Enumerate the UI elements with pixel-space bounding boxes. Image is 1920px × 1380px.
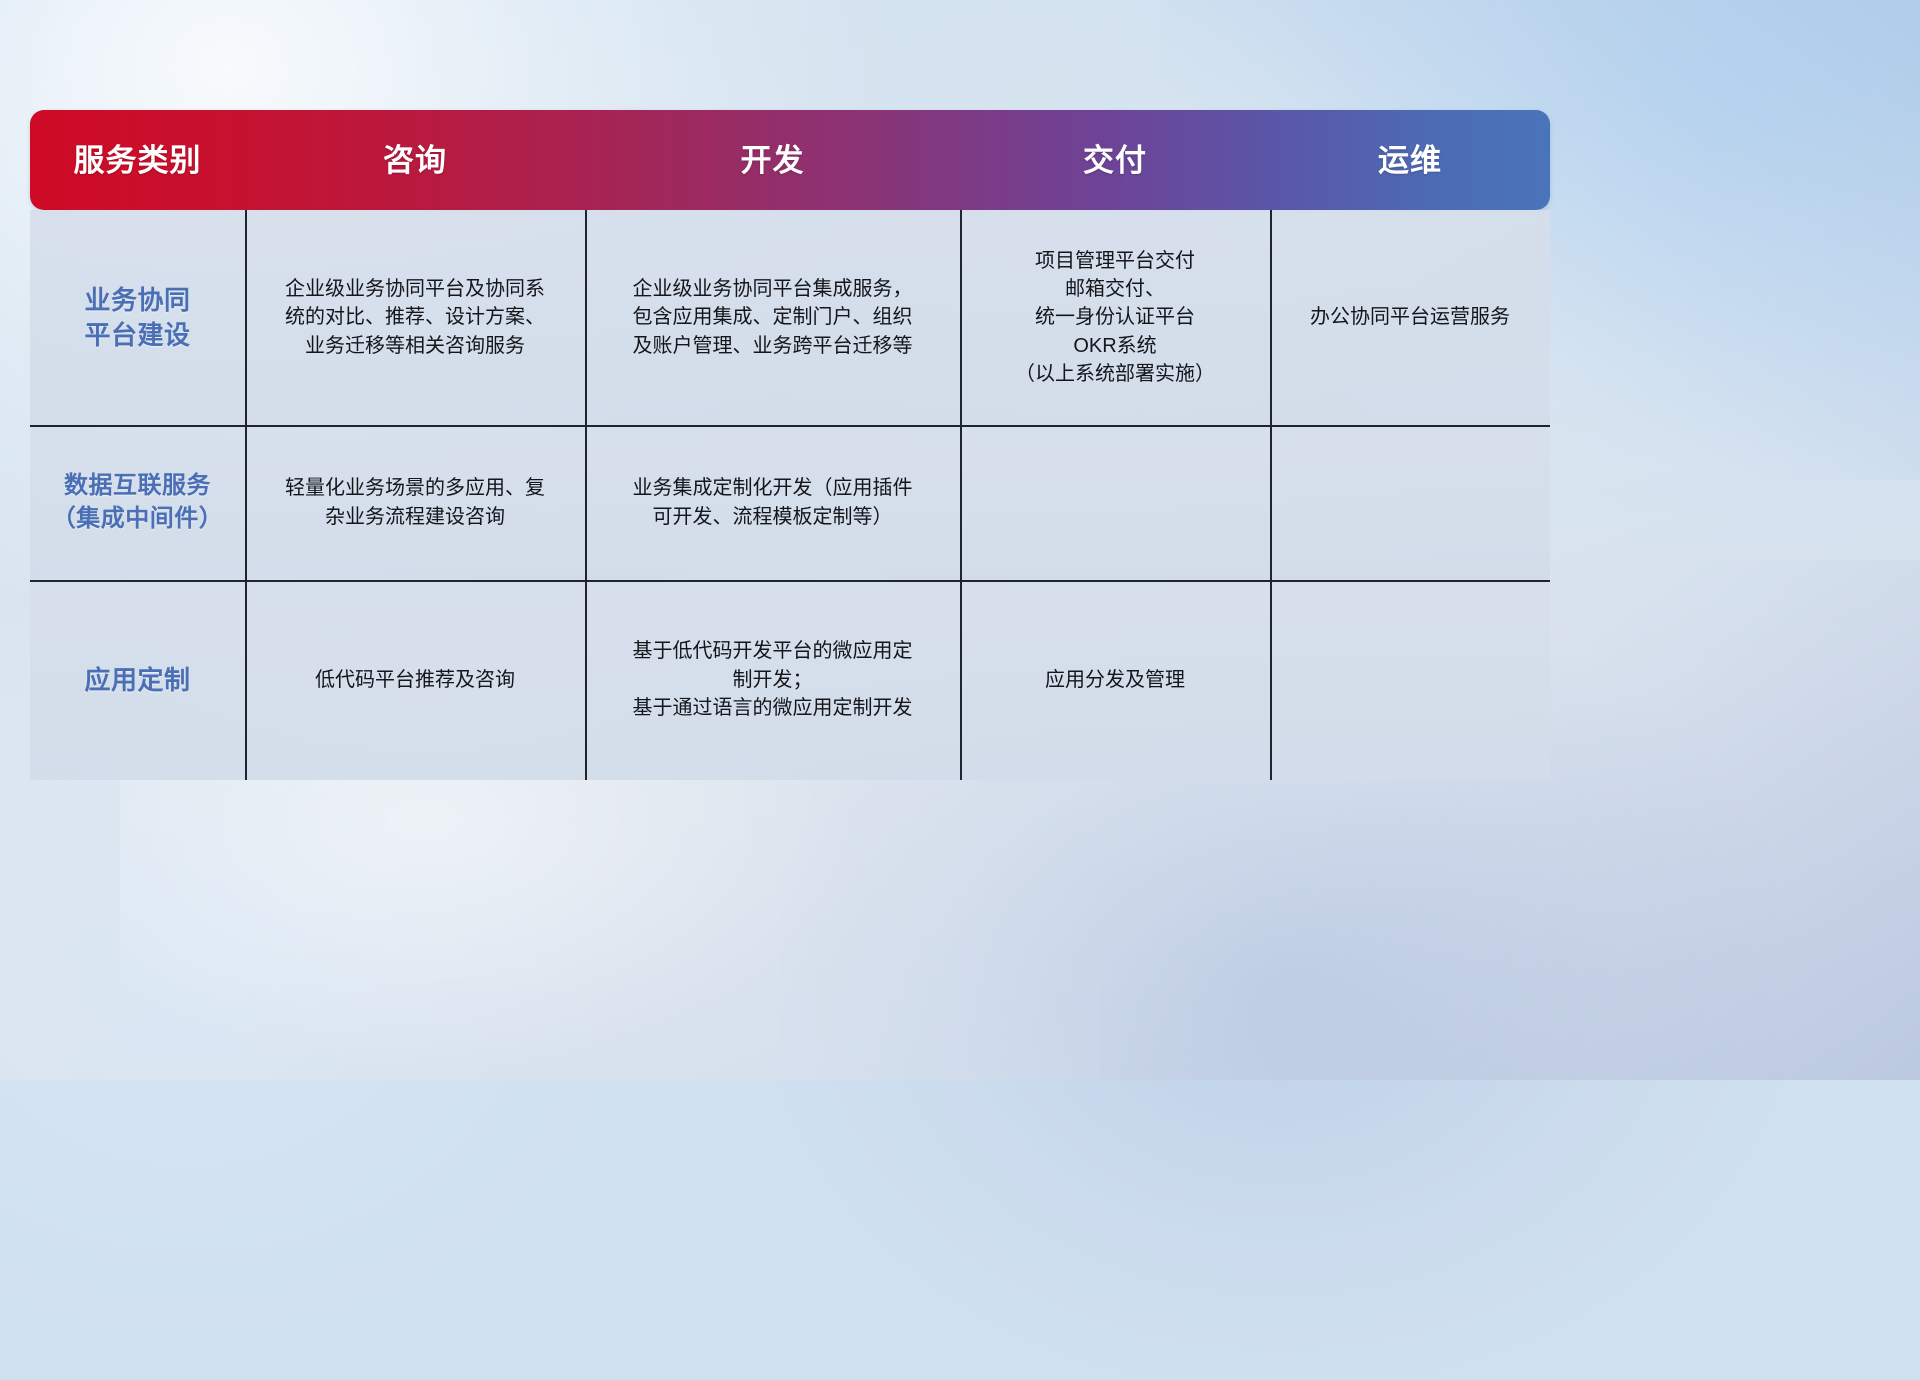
cell-operations xyxy=(1270,425,1550,580)
cell-development: 企业级业务协同平台集成服务， 包含应用集成、定制门户、组织 及账户管理、业务跨平… xyxy=(585,210,960,425)
service-category-table: 服务类别 咨询 开发 交付 运维 业务协同 平台建设 企业级业务协同平台及协同系… xyxy=(30,110,1550,780)
column-header-operations: 运维 xyxy=(1270,145,1550,176)
cell-operations xyxy=(1270,580,1550,780)
table-row: 应用定制 低代码平台推荐及咨询 基于低代码开发平台的微应用定 制开发； 基于通过… xyxy=(30,580,1550,780)
cell-delivery: 应用分发及管理 xyxy=(960,580,1270,780)
row-label-business-collaboration: 业务协同 平台建设 xyxy=(30,210,245,425)
table-row: 数据互联服务 （集成中间件） 轻量化业务场景的多应用、复 杂业务流程建设咨询 业… xyxy=(30,425,1550,580)
cell-consulting: 低代码平台推荐及咨询 xyxy=(245,580,585,780)
cell-development: 业务集成定制化开发（应用插件 可开发、流程模板定制等） xyxy=(585,425,960,580)
column-header-consulting: 咨询 xyxy=(245,145,585,176)
table-body: 业务协同 平台建设 企业级业务协同平台及协同系 统的对比、推荐、设计方案、 业务… xyxy=(30,210,1550,780)
table-row: 业务协同 平台建设 企业级业务协同平台及协同系 统的对比、推荐、设计方案、 业务… xyxy=(30,210,1550,425)
cell-consulting: 轻量化业务场景的多应用、复 杂业务流程建设咨询 xyxy=(245,425,585,580)
row-label-app-customization: 应用定制 xyxy=(30,580,245,780)
cell-delivery xyxy=(960,425,1270,580)
cell-consulting: 企业级业务协同平台及协同系 统的对比、推荐、设计方案、 业务迁移等相关咨询服务 xyxy=(245,210,585,425)
cell-operations: 办公协同平台运营服务 xyxy=(1270,210,1550,425)
column-header-category: 服务类别 xyxy=(30,145,245,176)
cell-delivery: 项目管理平台交付 邮箱交付、 统一身份认证平台 OKR系统 （以上系统部署实施） xyxy=(960,210,1270,425)
row-label-data-interconnect: 数据互联服务 （集成中间件） xyxy=(30,425,245,580)
column-header-delivery: 交付 xyxy=(960,145,1270,176)
column-header-development: 开发 xyxy=(585,145,960,176)
table-header-row: 服务类别 咨询 开发 交付 运维 xyxy=(30,110,1550,210)
cell-development: 基于低代码开发平台的微应用定 制开发； 基于通过语言的微应用定制开发 xyxy=(585,580,960,780)
